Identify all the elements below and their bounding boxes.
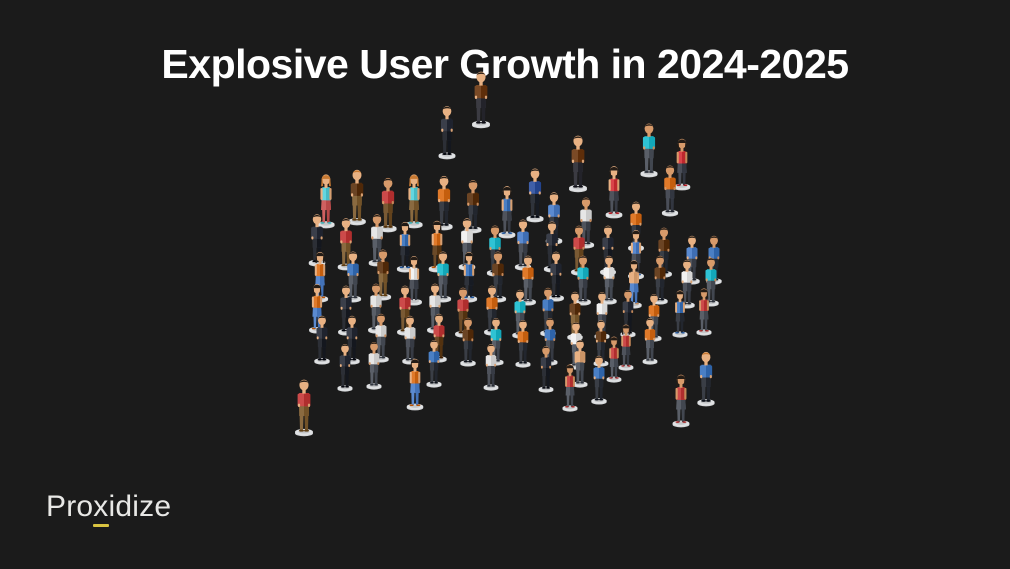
- person-figure: [565, 132, 591, 194]
- brand-logo-text: Proxidize: [46, 492, 171, 522]
- person-figure: [291, 376, 317, 438]
- person-figure: [403, 355, 427, 412]
- crowd-illustration: [0, 0, 1010, 569]
- person-figure: [669, 371, 693, 429]
- person-figure: [512, 317, 534, 369]
- person-figure: [536, 343, 557, 394]
- person-figure: [588, 353, 610, 406]
- person-figure: [435, 103, 459, 161]
- person-figure: [457, 315, 479, 368]
- person-figure: [334, 341, 356, 393]
- person-figure: [659, 162, 682, 218]
- person-figure: [636, 120, 661, 179]
- brand-logo[interactable]: Proxidize: [46, 492, 171, 522]
- person-figure: [602, 162, 626, 220]
- brand-logo-accent: x: [93, 490, 108, 523]
- person-figure: [640, 315, 661, 366]
- person-figure: [693, 285, 715, 337]
- brand-logo-prefix: Pro: [46, 490, 93, 523]
- person-figure: [669, 287, 691, 339]
- person-figure: [481, 341, 502, 392]
- person-figure: [363, 339, 385, 391]
- slide-canvas: Explosive User Growth in 2024-2025: [0, 0, 1010, 569]
- person-figure: [559, 361, 581, 413]
- person-figure: [693, 349, 718, 409]
- person-figure: [468, 68, 494, 130]
- brand-logo-accent-wrap: x: [93, 492, 108, 522]
- brand-logo-suffix: idize: [109, 490, 172, 523]
- person-figure: [311, 313, 333, 366]
- brand-logo-underline: [93, 524, 108, 527]
